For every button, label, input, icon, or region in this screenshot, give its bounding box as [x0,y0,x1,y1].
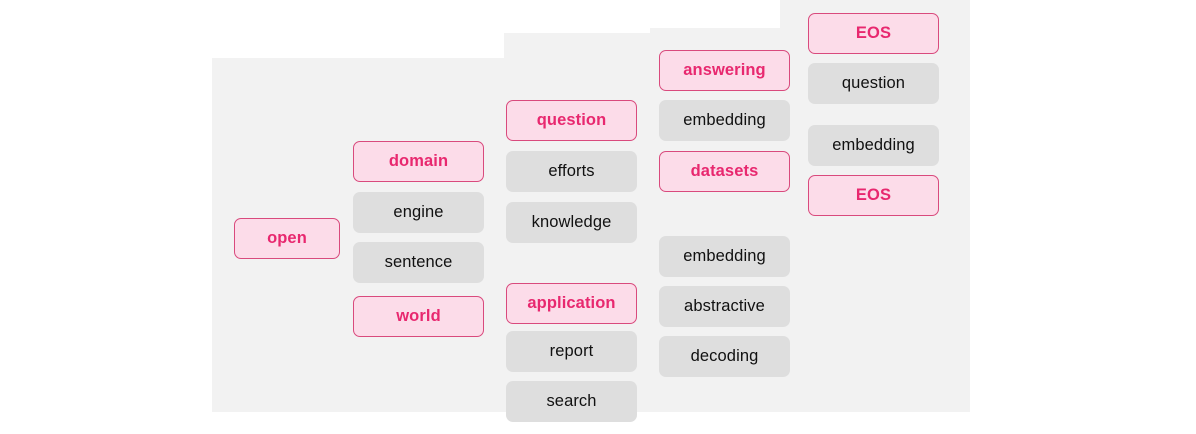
token-box-eos[interactable]: EOS [808,175,939,216]
token-box-application[interactable]: application [506,283,637,324]
token-box-question[interactable]: question [808,63,939,104]
token-box-report[interactable]: report [506,331,637,372]
token-box-eos[interactable]: EOS [808,13,939,54]
token-box-decoding[interactable]: decoding [659,336,790,377]
token-box-sentence[interactable]: sentence [353,242,484,283]
token-box-search[interactable]: search [506,381,637,422]
token-box-embedding[interactable]: embedding [659,100,790,141]
token-box-domain[interactable]: domain [353,141,484,182]
token-cascade-figure: opendomainenginesentenceworldquestioneff… [0,0,1196,434]
token-box-abstractive[interactable]: abstractive [659,286,790,327]
token-box-efforts[interactable]: efforts [506,151,637,192]
token-box-datasets[interactable]: datasets [659,151,790,192]
token-box-embedding[interactable]: embedding [659,236,790,277]
token-box-answering[interactable]: answering [659,50,790,91]
token-box-knowledge[interactable]: knowledge [506,202,637,243]
token-box-open[interactable]: open [234,218,340,259]
token-box-world[interactable]: world [353,296,484,337]
token-box-engine[interactable]: engine [353,192,484,233]
token-box-embedding[interactable]: embedding [808,125,939,166]
token-box-question[interactable]: question [506,100,637,141]
